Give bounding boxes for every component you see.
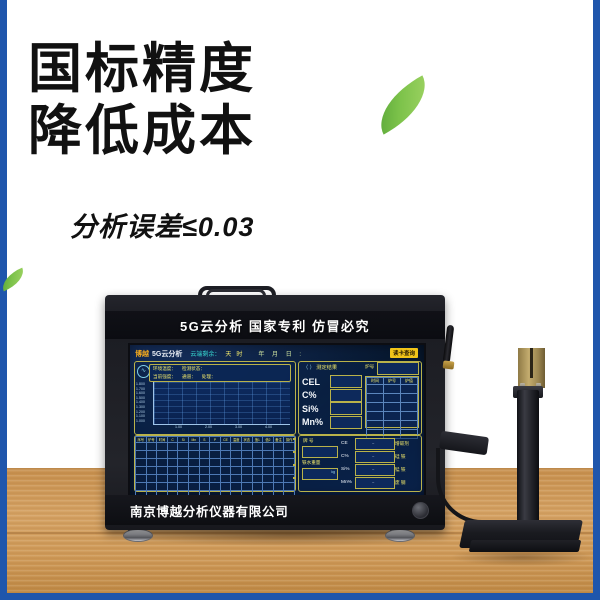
records-table-cell (188, 475, 199, 483)
stand-base-lower (469, 540, 582, 552)
element-value-box[interactable] (330, 375, 362, 388)
records-table-cell (157, 451, 168, 459)
records-table-cell (136, 459, 147, 467)
range-dash: ~ (372, 467, 374, 472)
records-table-cell (273, 483, 284, 491)
weight-input[interactable]: kg (302, 468, 338, 480)
records-table-cell (146, 459, 157, 467)
records-table-cell (136, 443, 147, 451)
records-table-cell (178, 459, 189, 467)
records-table-cell (273, 467, 284, 475)
company-name: 南京博越分析仪器有限公司 (130, 501, 288, 520)
leaf-icon-large (368, 75, 439, 134)
result-table-row[interactable] (367, 403, 418, 412)
records-table-row[interactable] (136, 483, 295, 491)
records-table-cell (241, 459, 252, 467)
alloy-element-label: Mn% (341, 480, 352, 485)
spectrum-chart-panel: ∿ 环境温度： 检测状态： 当前强度： 通道： 处理： 1.8001.7001.… (134, 361, 296, 435)
records-table-row[interactable] (136, 451, 295, 459)
chart-y-tick: 1.300 (136, 405, 145, 409)
cloud-unit-day: 天 (225, 349, 231, 358)
result-table-header: 时间 (367, 378, 384, 385)
records-table-cell (136, 451, 147, 459)
additive-label: 硅 铁 (395, 454, 405, 460)
element-value-box[interactable] (330, 402, 362, 415)
records-table-cell (241, 443, 252, 451)
records-table-cell (241, 475, 252, 483)
result-table-row[interactable] (367, 412, 418, 421)
env-label-2: 当前强度： (153, 374, 176, 380)
frame-right-border (593, 0, 600, 600)
records-table-cell (231, 467, 242, 475)
result-table-cell (367, 421, 384, 430)
alloy-range-input[interactable]: ~ (355, 451, 395, 463)
device-banner-text: 5G云分析 国家专利 仿冒必究 (180, 316, 370, 335)
records-table-cell (263, 443, 274, 451)
screen-title: 5G云分析 (152, 349, 182, 359)
records-table-cell (136, 475, 147, 483)
records-table-cell (210, 483, 221, 491)
result-table-cell (401, 412, 418, 421)
chart-x-tick: 3.00 (235, 425, 242, 429)
chart-x-tick: 2.00 (205, 425, 212, 429)
frame-left-border (0, 0, 7, 600)
env-label-1: 检测状态： (182, 366, 205, 372)
chart-x-tick: 4.00 (265, 425, 272, 429)
records-table-cell (252, 459, 263, 467)
records-table-cell (273, 459, 284, 467)
element-row: Si% (302, 402, 362, 415)
records-table-row[interactable] (136, 467, 295, 475)
records-table-cell (199, 483, 210, 491)
alloy-range-input[interactable]: ~ (355, 477, 395, 489)
chart-y-tick: 1.700 (136, 387, 145, 391)
records-table-row[interactable] (136, 443, 295, 451)
records-table-cell (157, 483, 168, 491)
records-table-cell (284, 483, 295, 491)
records-table-cell (220, 467, 231, 475)
element-label: Si% (302, 404, 330, 414)
records-table-cell (263, 467, 274, 475)
chart-y-tick: 1.600 (136, 391, 145, 395)
furnace-number-label: 炉号 (365, 364, 374, 370)
records-table-cell (210, 459, 221, 467)
element-label: C% (302, 390, 330, 400)
result-table-cell (401, 394, 418, 403)
result-table-cell (367, 394, 384, 403)
result-table-header: 炉值 (401, 378, 418, 385)
records-table-cell (252, 467, 263, 475)
records-table-cell (263, 475, 274, 483)
records-table-cell (210, 443, 221, 451)
chart-y-tick: 1.000 (136, 419, 145, 423)
device-banner: 5G云分析 国家专利 仿冒必究 (105, 311, 445, 339)
records-table-cell (284, 467, 295, 475)
records-table-cell (178, 443, 189, 451)
result-table-cell (384, 385, 401, 394)
records-table-cell (231, 475, 242, 483)
records-table-cell (167, 451, 178, 459)
screen-status-bar: 博越 5G云分析 云端剩余： 天 时 年 月 日 : 读卡查询 (133, 347, 421, 360)
result-table-cell (401, 421, 418, 430)
weight-label: 铁水重量 (302, 460, 320, 466)
chart-y-tick: 1.400 (136, 400, 145, 404)
element-label: Mn% (302, 417, 330, 427)
records-table-row[interactable] (136, 459, 295, 467)
headline-line-2: 降低成本 (28, 100, 368, 162)
records-table-cell (231, 443, 242, 451)
records-table-cell (252, 483, 263, 491)
chart-y-tick: 1.500 (136, 396, 145, 400)
records-table-cell (167, 467, 178, 475)
records-table-cell (263, 459, 274, 467)
records-table-cell (241, 467, 252, 475)
additive-label: 增碳剂 (395, 441, 409, 447)
records-table-cell (252, 443, 263, 451)
element-row: Mn% (302, 416, 362, 429)
result-table-cell (401, 385, 418, 394)
element-label: CEL (302, 377, 330, 387)
records-table-cell (273, 443, 284, 451)
weight-unit: kg (331, 470, 335, 474)
result-paren: （ ） (303, 365, 315, 371)
result-title: 测定结果 (316, 365, 337, 371)
env-label-3: 通道： (182, 374, 196, 380)
records-table-cell (199, 475, 210, 483)
records-table-cell (178, 451, 189, 459)
records-table-cell (146, 467, 157, 475)
element-row: C% (302, 389, 362, 402)
records-table-cell (188, 451, 199, 459)
element-row: CEL (302, 375, 362, 388)
grade-input[interactable] (302, 446, 338, 458)
result-table-cell (384, 403, 401, 412)
records-table-cell (220, 451, 231, 459)
records-table-cell (210, 475, 221, 483)
records-table-row[interactable] (136, 475, 295, 483)
chart-y-tick: 1.800 (136, 382, 145, 386)
analyzer-device: 5G云分析 国家专利 仿冒必究 博越 5G云分析 云端剩余： 天 时 年 月 日… (105, 295, 445, 530)
records-table-cell (263, 451, 274, 459)
range-dash: ~ (372, 441, 374, 446)
records-table-cell (188, 467, 199, 475)
records-table-cell (252, 475, 263, 483)
result-table-header: 炉号 (384, 378, 401, 385)
records-table-cell (210, 467, 221, 475)
result-header: （ ） 测定结果 (303, 364, 337, 371)
records-table-cell (167, 475, 178, 483)
antenna-base (443, 360, 455, 369)
records-table-cell (178, 483, 189, 491)
alloy-range-input[interactable]: ~ (355, 438, 395, 450)
result-table-row[interactable] (367, 394, 418, 403)
records-table-cell (136, 483, 147, 491)
records-table-cell (273, 475, 284, 483)
subheadline: 分析误差≤0.03 (70, 205, 254, 244)
headline-line-1: 国标精度 (28, 38, 368, 100)
measurement-result-panel: （ ） 测定结果 炉号 CELC%Si%Mn% 时间炉号炉值 (298, 361, 422, 435)
records-table-cell (178, 475, 189, 483)
records-table-cell (241, 451, 252, 459)
records-table-cell (273, 451, 284, 459)
records-table-cell (263, 483, 274, 491)
result-table-row[interactable] (367, 421, 418, 430)
cloud-unit-hour: 时 (236, 349, 242, 358)
records-table-cell (220, 483, 231, 491)
records-table-cell (231, 483, 242, 491)
result-table-cell (401, 403, 418, 412)
records-table-cell (146, 451, 157, 459)
records-table-cell (146, 443, 157, 451)
range-dash: ~ (372, 454, 374, 459)
records-table-cell (157, 443, 168, 451)
alloy-calculation-panel: 牌 号 铁水重量 kg CE~增碳剂C%~硅 铁Si%~锰 铁Mn%~废 钢 (298, 435, 422, 492)
device-front-bar: 南京博越分析仪器有限公司 (105, 495, 445, 525)
records-table-cell (167, 443, 178, 451)
records-table-cell (210, 451, 221, 459)
chart-x-tick: 1.00 (175, 425, 182, 429)
records-table-cell (199, 459, 210, 467)
read-card-button[interactable]: 读卡查询 (390, 348, 418, 358)
brass-holder-slot (530, 348, 533, 378)
records-table-cell (146, 475, 157, 483)
chart-y-tick: 1.200 (136, 410, 145, 414)
records-table-cell (136, 467, 147, 475)
records-table-cell (199, 443, 210, 451)
records-table-cell (220, 443, 231, 451)
result-table-cell (384, 412, 401, 421)
records-table-cell (188, 483, 199, 491)
records-table-cell (157, 459, 168, 467)
alloy-element-label: C% (341, 454, 349, 459)
records-table-cell (188, 459, 199, 467)
chart-y-tick: 1.100 (136, 414, 145, 418)
stand-column (517, 390, 539, 530)
element-value-box[interactable] (330, 389, 362, 402)
records-table-cell (167, 483, 178, 491)
records-table-cell (220, 475, 231, 483)
records-table-cell (157, 475, 168, 483)
result-table-cell (367, 385, 384, 394)
result-table-cell (384, 394, 401, 403)
grade-label: 牌 号 (303, 438, 313, 444)
records-table-cell (199, 467, 210, 475)
screen-brand: 博越 (135, 349, 149, 359)
environment-readout: 环境温度： 检测状态： 当前强度： 通道： 处理： (149, 364, 291, 382)
element-value-box[interactable] (330, 416, 362, 429)
records-table-panel[interactable]: 序号炉号时间CSiMnSPCE温度状态值1值2备注操作 (134, 435, 296, 492)
poster-canvas: 国标精度 降低成本 分析误差≤0.03 5G云分析 国家专利 仿冒必究 博越 5… (0, 0, 600, 600)
records-table-cell (241, 483, 252, 491)
result-table-cell (384, 421, 401, 430)
records-table-cell (231, 451, 242, 459)
result-table-cell (367, 403, 384, 412)
additive-label: 废 钢 (395, 480, 405, 486)
result-history-table[interactable]: 时间炉号炉值 (365, 376, 419, 428)
records-table-cell (188, 443, 199, 451)
headline-block: 国标精度 降低成本 (28, 38, 368, 162)
alloy-element-label: Si% (341, 467, 350, 472)
alloy-element-label: CE (341, 441, 348, 446)
records-table-cell (167, 459, 178, 467)
frame-bottom-border (0, 593, 600, 600)
records-table-cell (252, 451, 263, 459)
result-table-row[interactable] (367, 385, 418, 394)
records-table-cell (157, 467, 168, 475)
cloud-remaining-label: 云端剩余： (190, 349, 220, 358)
additive-label: 锰 铁 (395, 467, 405, 473)
range-dash: ~ (372, 480, 374, 485)
records-table-cell (146, 483, 157, 491)
records-table-cell (220, 459, 231, 467)
records-table-cell (284, 443, 295, 451)
env-label-0: 环境温度： (153, 366, 176, 372)
spectrum-plot-area (153, 382, 290, 425)
power-knob-icon[interactable] (412, 502, 429, 519)
records-table-cell (178, 467, 189, 475)
furnace-number-input[interactable] (377, 362, 419, 375)
date-fields: 年 月 日 : (258, 349, 304, 358)
env-label-4: 处理： (202, 374, 216, 380)
frame-top (0, 0, 600, 5)
records-table-cell (231, 459, 242, 467)
alloy-range-input[interactable]: ~ (355, 464, 395, 476)
result-table-cell (367, 412, 384, 421)
lcd-screen[interactable]: 博越 5G云分析 云端剩余： 天 时 年 月 日 : 读卡查询 ∿ 环境温度： … (128, 343, 426, 497)
records-table-cell (199, 451, 210, 459)
